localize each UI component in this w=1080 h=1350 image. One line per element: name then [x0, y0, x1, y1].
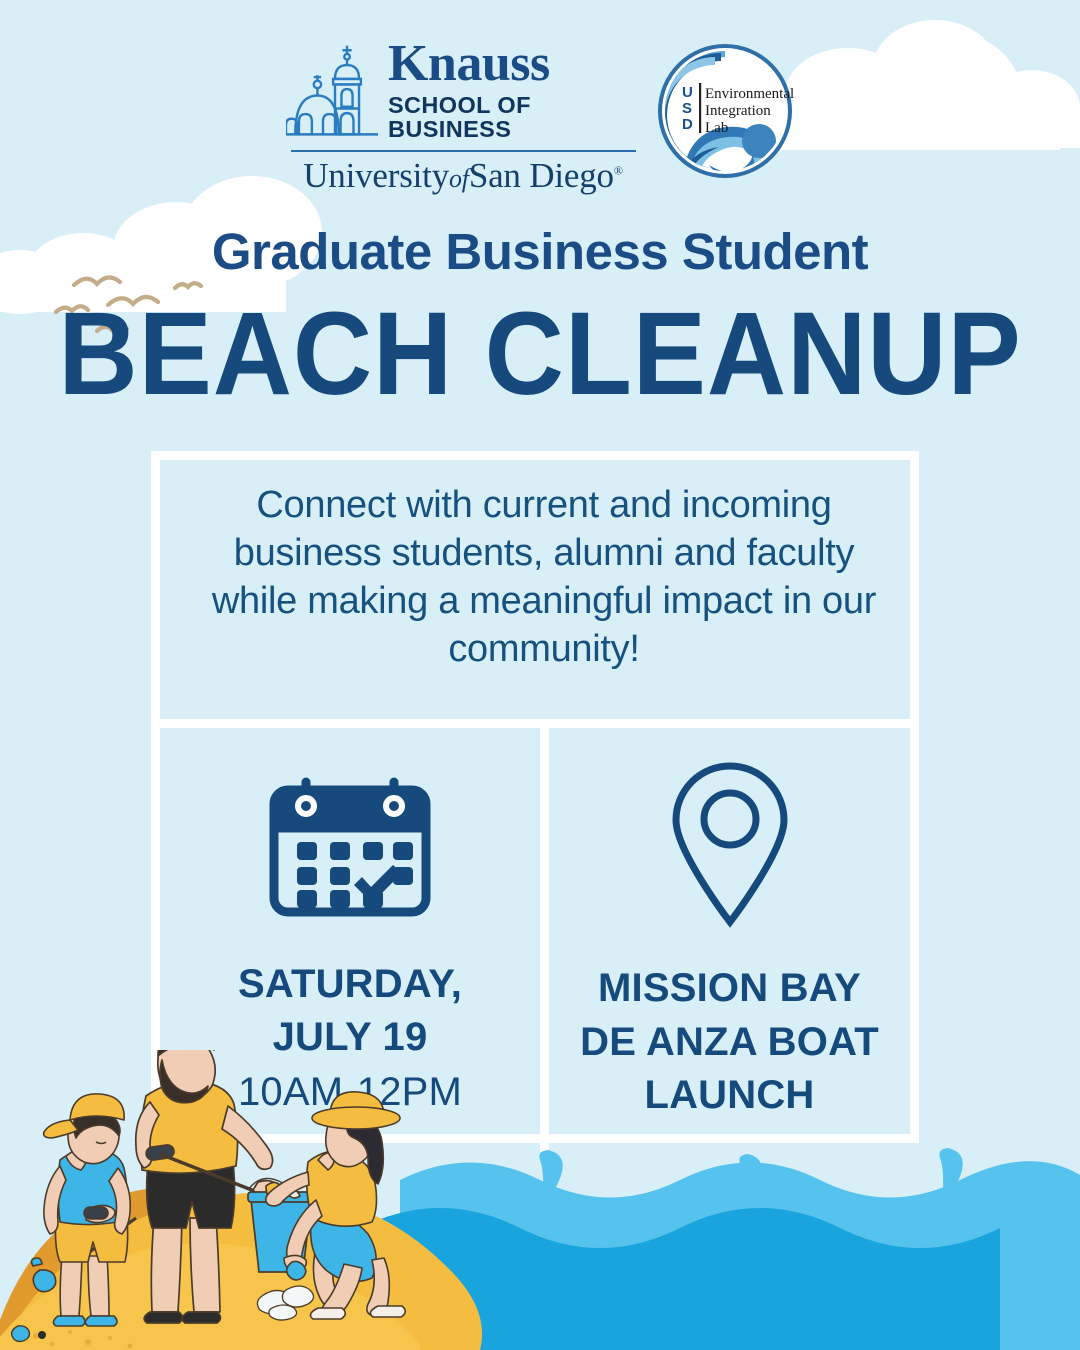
eil-line-2: Integration	[705, 103, 771, 119]
beach-cleanup-illustration	[0, 1050, 1080, 1350]
san-diego-word: San Diego	[469, 156, 614, 195]
location-line-1: MISSION BAY	[580, 962, 879, 1016]
panel-horizontal-divider	[160, 719, 910, 728]
registered-mark: ®	[614, 163, 623, 177]
usd-letter-u: U	[682, 84, 693, 101]
event-day: SATURDAY, JULY 19	[238, 958, 462, 1064]
eil-line-3: Lab	[705, 120, 728, 136]
environmental-integration-lab-badge: U S D Environmental Integration Lab	[655, 41, 795, 181]
knauss-subtitle: SCHOOL OF BUSINESS	[388, 94, 641, 141]
eil-line-1: Environmental	[705, 86, 794, 102]
map-pin-icon	[660, 762, 800, 928]
page-kicker: Graduate Business Student	[0, 222, 1080, 281]
logo-divider-rule	[291, 150, 636, 152]
usd-letter-d: D	[682, 116, 693, 133]
usd-letter-s: S	[682, 100, 692, 117]
knauss-wordmark: Knauss	[388, 39, 550, 90]
info-panel-frame: Connect with current and incoming busine…	[151, 451, 919, 1143]
header-logos: Knauss SCHOOL OF BUSINESS UniversityofSa…	[0, 38, 1080, 196]
event-weekday: SATURDAY,	[238, 958, 462, 1011]
calendar-icon	[266, 772, 434, 920]
page-title: BEACH CLEANUP	[38, 295, 1042, 413]
event-description: Connect with current and incoming busine…	[190, 482, 898, 674]
of-word: of	[449, 164, 469, 193]
knauss-school-logo: Knauss SCHOOL OF BUSINESS UniversityofSa…	[286, 38, 641, 196]
university-of-san-diego-wordmark: UniversityofSan Diego®	[303, 156, 623, 196]
usd-environmental-integration-lab-seal-icon: U S D Environmental Integration Lab	[655, 41, 795, 181]
usd-mission-building-icon	[286, 38, 378, 142]
poster-canvas: Knauss SCHOOL OF BUSINESS UniversityofSa…	[0, 0, 1080, 1350]
university-word: University	[303, 156, 449, 195]
